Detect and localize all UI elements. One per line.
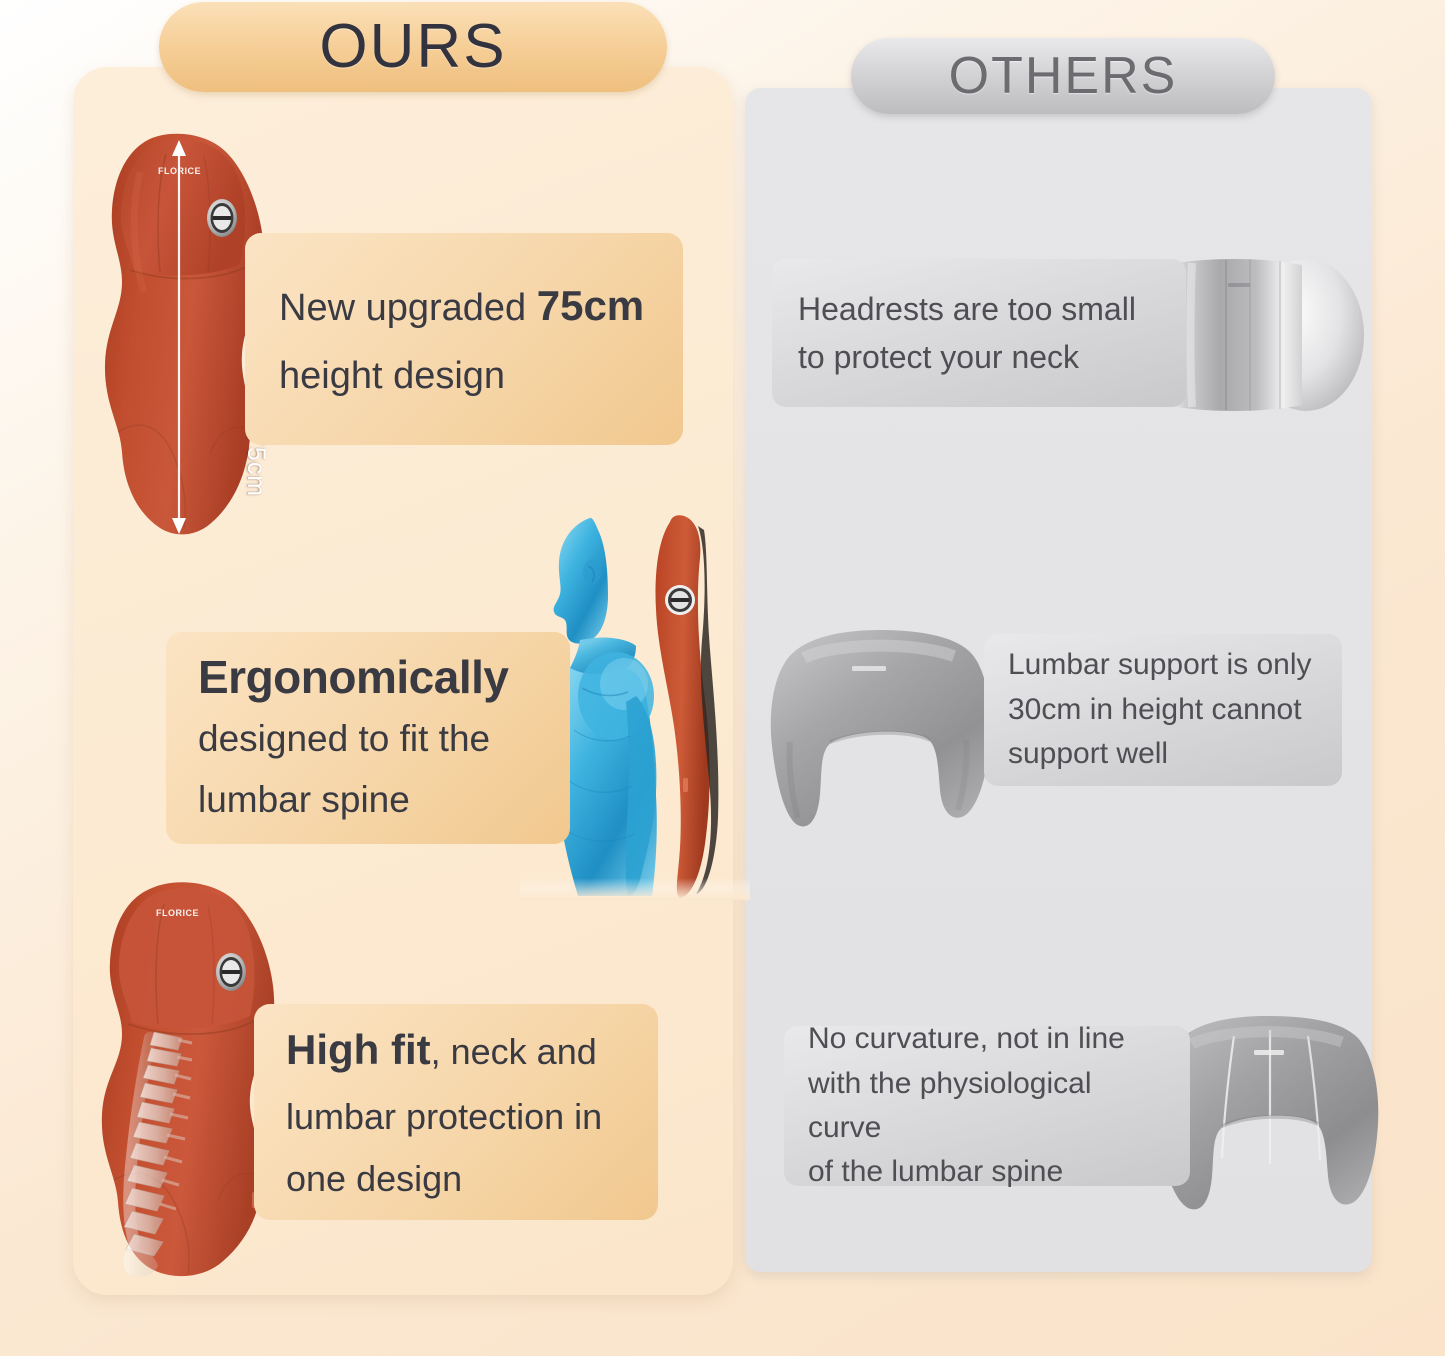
nocurve-line1-text: No curvature, not in line	[808, 1017, 1172, 1061]
highfit-lead-text: , neck and	[431, 1031, 597, 1072]
lumbar30-line2-text: 30cm in height cannot	[1008, 688, 1322, 732]
nocurve-line2-text: with the physiological curve	[808, 1062, 1172, 1151]
height-emphasis-text: 75cm	[537, 282, 644, 329]
ours-feature-callout-highfit: High fit, neck and lumbar protection in …	[254, 1004, 658, 1220]
others-drawback-callout-no-curvature: No curvature, not in line with the physi…	[784, 1026, 1190, 1186]
lumbar30-line3-text: support well	[1008, 732, 1322, 776]
others-heading-pill: OTHERS	[851, 38, 1275, 114]
height-lead-text: New upgraded	[279, 287, 537, 329]
ergo-line3-text: lumbar spine	[198, 769, 544, 830]
lumbar30-line1-text: Lumbar support is only	[1008, 643, 1322, 687]
brand-logo-top: FLORICE	[158, 166, 201, 176]
brand-logo-spine: FLORICE	[156, 908, 199, 918]
highfit-line2-text: lumbar protection in	[286, 1086, 632, 1148]
highfit-emphasis-text: High fit	[286, 1026, 431, 1073]
ergo-line2-text: designed to fit the	[198, 708, 544, 769]
height-tail-text: height design	[279, 343, 653, 410]
headrest-line2-text: to protect your neck	[798, 333, 1162, 381]
others-drawback-callout-headrest: Headrests are too small to protect your …	[772, 259, 1186, 407]
ours-heading-text: OURS	[319, 16, 506, 78]
others-drawback-callout-lumbar-height: Lumbar support is only 30cm in height ca…	[984, 634, 1342, 786]
ours-feature-callout-height: New upgraded 75cm height design	[245, 233, 683, 445]
others-heading-text: OTHERS	[949, 50, 1178, 102]
ours-feature-callout-ergonomic: Ergonomically designed to fit the lumbar…	[166, 632, 570, 844]
headrest-line1-text: Headrests are too small	[798, 285, 1162, 333]
ours-heading-pill: OURS	[159, 2, 667, 92]
highfit-line3-text: one design	[286, 1148, 632, 1210]
others-lumbar-cushion-image-1	[758, 618, 1014, 842]
ergo-emphasis-text: Ergonomically	[198, 646, 544, 708]
nocurve-line3-text: of the lumbar spine	[808, 1150, 1172, 1194]
